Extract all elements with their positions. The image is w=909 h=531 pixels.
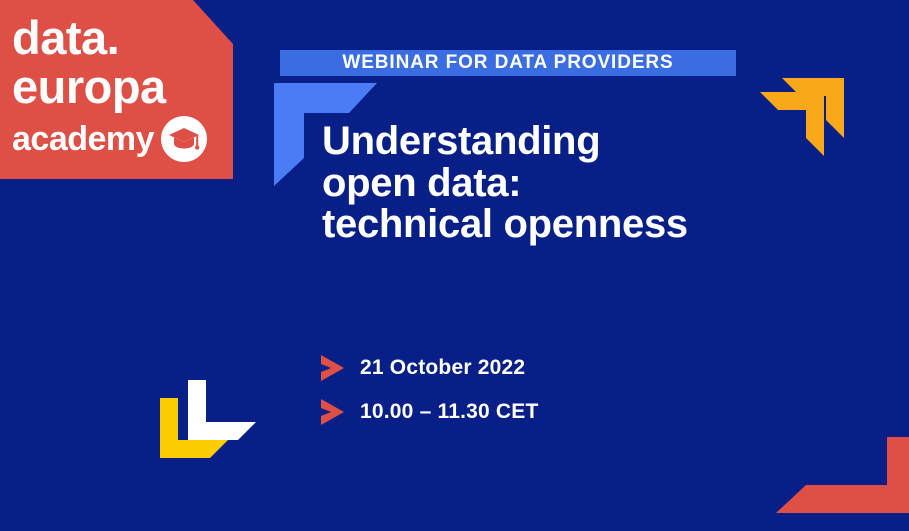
logo-wordmark: data. europa academy [12, 14, 227, 162]
academy-logo-panel: data. europa academy [0, 0, 233, 179]
detail-time: 10.00 – 11.30 CET [360, 400, 539, 424]
detail-date: 21 October 2022 [360, 356, 525, 380]
webinar-poster: data. europa academy WEBINAR FOR DATA PR… [0, 0, 909, 531]
detail-row-date: 21 October 2022 [320, 346, 539, 390]
logo-line-academy: academy [12, 122, 154, 156]
eyebrow-label: WEBINAR FOR DATA PROVIDERS [342, 52, 673, 74]
title-line-2: open data: [322, 163, 842, 205]
page-title: Understanding open data: technical openn… [322, 121, 842, 246]
title-line-1: Understanding [322, 121, 842, 163]
logo-line-academy-row: academy [12, 116, 227, 162]
chevron-right-icon [320, 399, 344, 425]
event-details: 21 October 2022 10.00 – 11.30 CET [320, 346, 539, 434]
logo-line-data: data. [12, 14, 227, 61]
logo-line-europa: europa [12, 63, 227, 110]
title-line-3: technical openness [322, 204, 842, 246]
detail-row-time: 10.00 – 11.30 CET [320, 390, 539, 434]
graduation-cap-icon [161, 116, 207, 162]
nested-l-shapes-icon [160, 380, 260, 458]
chevron-right-icon [320, 355, 344, 381]
eyebrow-banner: WEBINAR FOR DATA PROVIDERS [280, 50, 736, 76]
red-angular-corner-icon [776, 437, 909, 531]
